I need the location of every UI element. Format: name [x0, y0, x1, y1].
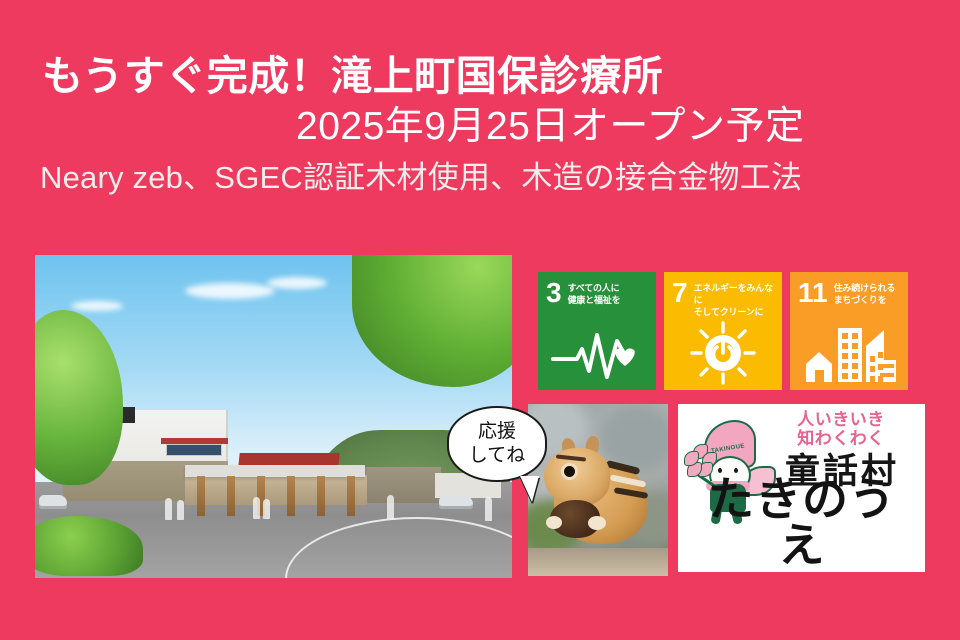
cloud-shape [267, 277, 327, 289]
opening-date-subtitle: 2025年9月25日オープン予定 [0, 104, 960, 151]
building-render-image [35, 255, 512, 578]
parked-car [439, 496, 473, 509]
gravel-ground [528, 548, 668, 576]
sdg-header: 7 エネルギーをみんなに そしてクリーンに [664, 272, 782, 319]
foliage-tree [35, 310, 123, 485]
figure-silhouette [165, 498, 172, 520]
sdg-title: 住み続けられる まちづくりを [834, 281, 896, 307]
parked-car [39, 495, 67, 509]
sdg-number: 11 [798, 281, 828, 305]
construction-features-text: Neary zeb、SGEC認証木材使用、木造の接合金物工法 [0, 159, 960, 196]
sdg-goal-11[interactable]: 11 住み続けられる まちづくりを [790, 272, 908, 390]
speech-bubble-line1: 応援 [478, 420, 516, 444]
headline-block: もうすぐ完成！滝上町国保診療所 2025年9月25日オープン予定 Neary z… [0, 52, 960, 196]
sun-power-icon [664, 322, 782, 384]
building-window-strip [166, 444, 222, 456]
canopy-column [347, 476, 355, 516]
canopy-column [197, 476, 205, 516]
cloud-shape [185, 283, 275, 299]
cloud-shape [71, 301, 123, 311]
chipmunk-eye [564, 466, 575, 477]
sdg-header: 11 住み続けられる まちづくりを [790, 272, 908, 307]
sdg-title: エネルギーをみんなに そしてクリーンに [694, 281, 776, 319]
sakura-flower-icon [684, 444, 714, 474]
chipmunk-paw [546, 516, 562, 529]
foliage-tree [352, 255, 512, 387]
chipmunk-photo [528, 404, 668, 576]
sdg-goal-3[interactable]: 3 すべての人に 健康と福祉を [538, 272, 656, 390]
sdg-header: 3 すべての人に 健康と福祉を [538, 272, 656, 307]
sdg-number: 3 [546, 281, 562, 305]
canopy-column [227, 476, 235, 516]
sdg-goal-7[interactable]: 7 エネルギーをみんなに そしてクリーンに [664, 272, 782, 390]
speech-bubble-line2: してね [469, 444, 525, 468]
figure-silhouette [253, 497, 260, 519]
city-buildings-icon [790, 322, 908, 384]
sdg-number: 7 [672, 281, 688, 305]
figure-silhouette [177, 500, 184, 520]
heartbeat-icon [538, 322, 656, 384]
figure-silhouette [387, 495, 394, 519]
figure-silhouette [263, 499, 270, 519]
sdg-icon-row: 3 すべての人に 健康と福祉を 7 エネルギーをみんなに そしてクリーンに [538, 272, 908, 390]
sdg-title: すべての人に 健康と福祉を [568, 281, 621, 307]
entrance-canopy-roof [185, 465, 365, 477]
poster-canvas: もうすぐ完成！滝上町国保診療所 2025年9月25日オープン予定 Neary z… [0, 0, 960, 640]
canopy-column [287, 476, 295, 516]
building-right-wing [355, 467, 441, 503]
logo-tagline-line1: 人いきいき [765, 410, 917, 429]
page-title: もうすぐ完成！滝上町国保診療所 [0, 52, 960, 100]
logo-tagline: 人いきいき 知わくわく [765, 410, 917, 448]
chipmunk-paw [588, 516, 606, 530]
logo-tagline-line2: 知わくわく [765, 429, 917, 448]
canopy-column [317, 476, 325, 516]
entrance-canopy-wood [185, 475, 367, 505]
takinoue-town-logo: TAKINOUE 人いきいき 知わくわく 童話村 たきのうえ [678, 404, 925, 572]
speech-bubble: 応援 してね [447, 406, 547, 482]
figure-silhouette [485, 497, 492, 521]
speech-bubble-tail [520, 476, 539, 502]
logo-kana-takinoue: たきのうえ [686, 476, 918, 568]
